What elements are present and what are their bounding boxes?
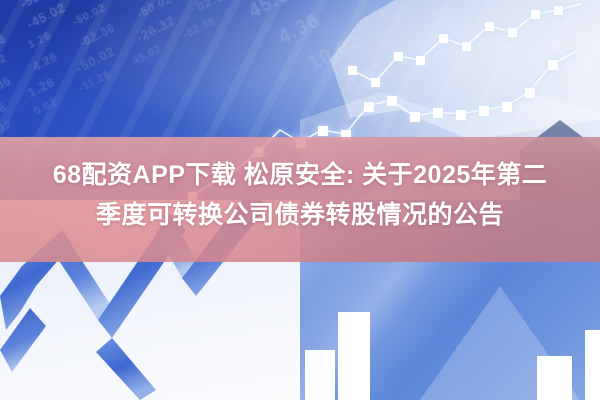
bar-column [338,312,370,400]
data-point-marker [433,108,443,118]
data-point-marker [416,56,425,65]
data-point-marker [548,60,558,70]
data-point-marker [485,22,494,31]
data-point-marker [525,88,535,98]
data-point-marker [502,102,512,112]
data-point-marker [410,112,420,122]
headline-line-1: 68配资APP下载 松原安全: 关于2025年第二 [14,155,586,195]
data-point-marker [462,42,471,51]
data-point-marker [439,34,448,43]
data-point-marker [364,102,374,112]
data-point-marker [456,110,466,120]
bar-column [537,356,572,400]
data-point-marker [531,10,540,19]
data-point-marker [394,52,403,61]
headline-line-2: 季度可转换公司债券转股情况的公告 [14,195,586,235]
zigzag-segment [96,338,156,400]
bar-column [305,350,335,400]
headline-text: 68配资APP下载 松原安全: 关于2025年第二 季度可转换公司债券转股情况的… [0,155,600,235]
data-point-marker [387,96,397,106]
data-point-marker [554,6,563,15]
data-point-marker [348,66,357,75]
data-point-marker [479,106,489,116]
data-point-marker [318,126,328,136]
data-point-marker [508,28,517,37]
data-point-marker [371,78,380,87]
news-banner: -50.02-02.36-11.26-45.02-21.36-02.36-50.… [0,0,600,400]
bar-column [585,330,600,400]
